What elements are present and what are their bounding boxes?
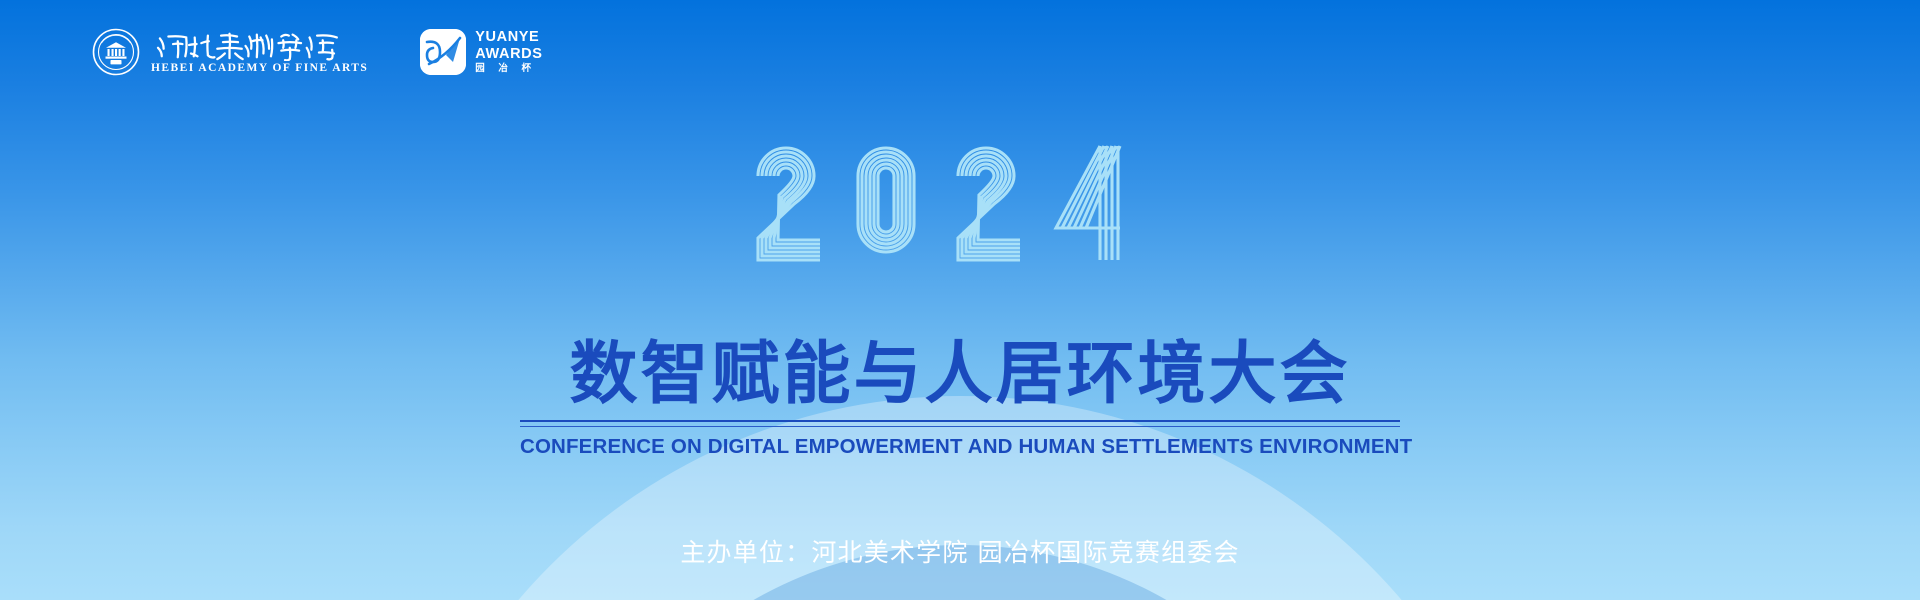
hebei-name-en: HEBEI ACADEMY OF FINE ARTS: [151, 62, 368, 75]
divider-rule-bottom: [520, 426, 1400, 427]
hebei-academy-wordmark: HEBEI ACADEMY OF FINE ARTS: [151, 29, 368, 75]
title-divider: [520, 420, 1400, 427]
yuanye-wordmark: YUANYE AWARDS 园 冶 杯: [475, 30, 542, 74]
yuanye-awards-logo: YUANYE AWARDS 园 冶 杯: [420, 29, 542, 75]
divider-rule-top: [520, 420, 1400, 422]
hebei-academy-logo: HEBEI ACADEMY OF FINE ARTS: [92, 28, 368, 76]
conference-banner: HEBEI ACADEMY OF FINE ARTS YUANYE AWARDS…: [0, 0, 1920, 600]
hebei-name-cn: [151, 29, 368, 61]
conference-title-cn: 数智赋能与人居环境大会: [520, 336, 1400, 414]
yuanye-line1: YUANYE: [475, 30, 542, 45]
logo-row: HEBEI ACADEMY OF FINE ARTS YUANYE AWARDS…: [92, 28, 543, 76]
title-block: 数智赋能与人居环境大会 CONFERENCE ON DIGITAL EMPOWE…: [520, 336, 1400, 459]
year-graphic-2024: [750, 130, 1170, 290]
yuanye-line2: AWARDS: [475, 47, 542, 62]
yuanye-leaf-mark-icon: [420, 29, 466, 75]
academy-seal-icon: [92, 28, 140, 76]
conference-title-en: CONFERENCE ON DIGITAL EMPOWERMENT AND HU…: [520, 435, 1400, 459]
organizer-line: 主办单位：河北美术学院 园冶杯国际竞赛组委会: [680, 533, 1239, 569]
yuanye-line3-cn: 园 冶 杯: [475, 64, 542, 74]
